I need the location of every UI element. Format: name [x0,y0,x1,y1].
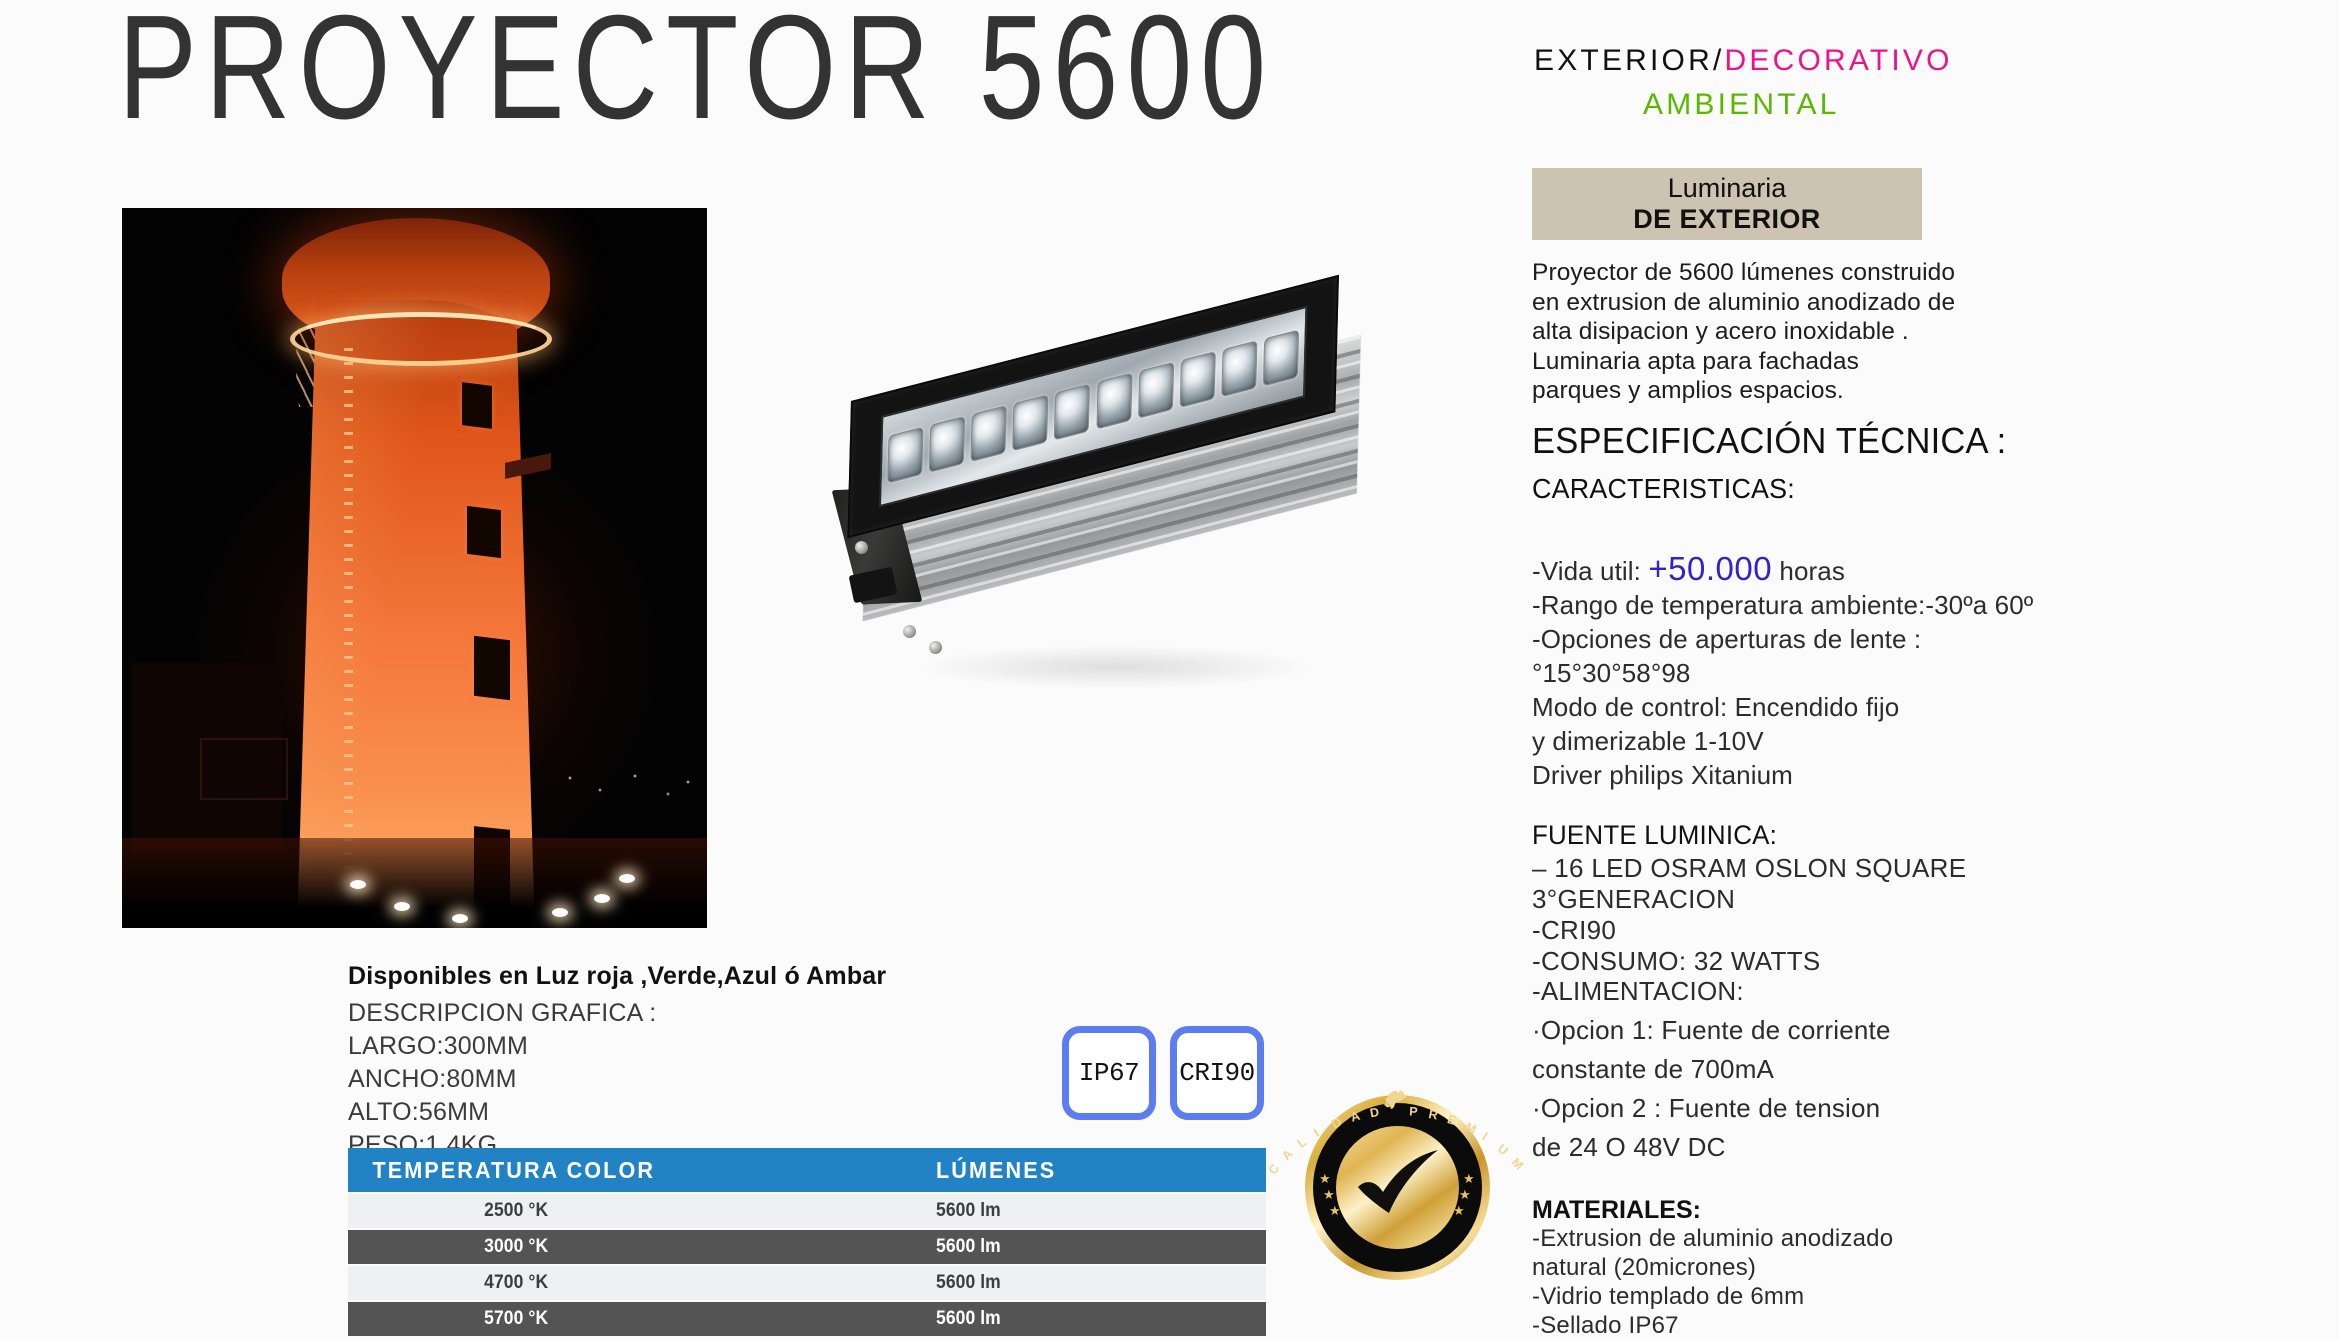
fuente-luminica-heading: FUENTE LUMINICA: [1532,820,1777,851]
spec-line: – 16 LED OSRAM OSLON SQUARE [1532,853,2152,884]
cell-temperature: 2500 °K [348,1200,889,1222]
led-lens [1013,394,1049,451]
photo-ground [122,838,707,928]
intro-line: en extrusion de aluminio anodizado de [1532,288,2092,318]
badge-ip67: IP67 [1062,1026,1156,1120]
fixture-stage [845,395,1465,755]
caracteristicas-list: -Vida util: +50.000 horas -Rango de temp… [1532,552,2132,792]
vida-util-value: +50.000 [1648,550,1772,587]
spec-line: -Opciones de aperturas de lente : [1532,622,2132,656]
ground-spotlight [452,914,468,923]
seal-text-char: C [1265,1161,1282,1177]
alimentacion-list: -ALIMENTACION: ·Opcion 1: Fuente de corr… [1532,972,2152,1167]
graphic-description-block: DESCRIPCION GRAFICA : LARGO:300MM ANCHO:… [348,997,656,1162]
luminaria-label-line2: DE EXTERIOR [1633,203,1820,235]
installation-photo-tower [122,208,707,928]
tower-cap-ring [290,312,552,366]
quality-seal: CALIDAD PREMIUM SATISFACCIÓN GARANTIZADA… [1305,1095,1490,1280]
spec-line: ·Opcion 1: Fuente de corriente [1532,1011,2152,1050]
product-spec-sheet: PROYECTOR 5600 EXTERIOR/DECORATIVO AMBIE… [0,0,2339,1337]
tower-window [474,636,510,700]
kicker-ambiental: AMBIENTAL [1643,88,1840,122]
checkmark-icon [1352,1147,1444,1221]
table-row: 3000 °K 5600 lm [348,1230,1266,1264]
badge-cri90: CRI90 [1170,1026,1264,1120]
fuente-luminica-list: – 16 LED OSRAM OSLON SQUARE 3°GENERACION… [1532,853,2152,977]
materiales-heading: MATERIALES: [1532,1196,1701,1225]
tower-ladder [344,348,353,908]
certification-badges: IP67 CRI90 [1062,1026,1264,1120]
led-lens [1096,373,1132,430]
table-header-lumens: LÚMENES [936,1157,1246,1184]
spec-line: -Rango de temperatura ambiente:-30ºa 60º [1532,588,2132,622]
cell-lumens: 5600 lm [936,1200,1240,1222]
desc-line-title: DESCRIPCION GRAFICA : [348,997,656,1030]
desc-line-largo: LARGO:300MM [348,1030,656,1063]
spec-line: ·Opcion 2 : Fuente de tension [1532,1089,2152,1128]
led-lens [971,405,1007,462]
spec-heading: ESPECIFICACIÓN TÉCNICA : [1532,420,2006,462]
seal-star-icon: ★ [1329,1203,1341,1219]
spec-line: -Vidrio templado de 6mm [1532,1282,2152,1311]
spec-line: -Sellado IP67 [1532,1311,2152,1340]
fixture-screw [855,541,868,554]
cell-temperature: 5700 °K [348,1308,889,1330]
led-lens [1221,340,1257,397]
kicker-decorativo: DECORATIVO [1725,44,1953,77]
seal-star-icon: ★ [1319,1171,1331,1187]
fixture-screw [929,641,942,654]
spec-line: °15°30°58°98 [1532,656,2132,690]
desc-line-alto: ALTO:56MM [348,1096,656,1129]
led-lens [1263,330,1299,387]
led-lens [887,427,923,484]
spec-line-vida-util: -Vida util: +50.000 horas [1532,552,2132,588]
spec-line: Modo de control: Encendido fijo [1532,690,2132,724]
spec-line: natural (20micrones) [1532,1253,2152,1282]
fixture-shadow [915,645,1315,689]
seal-text-char: U [1494,1141,1510,1158]
table-row: 2500 °K 5600 lm [348,1194,1266,1228]
background-window-frame [200,738,288,800]
spec-line: -CRI90 [1532,915,2152,946]
led-lens [1138,362,1174,419]
seal-text-char: A [1279,1146,1295,1162]
ground-spotlight [394,902,410,911]
desc-line-ancho: ANCHO:80MM [348,1063,656,1096]
ground-spotlight [350,880,366,889]
vida-util-suffix: horas [1772,556,1845,586]
seal-star-icon: ★ [1463,1171,1475,1187]
spec-line: -Extrusion de aluminio anodizado [1532,1224,2152,1253]
table-row: 5700 °K 5600 lm [348,1302,1266,1336]
table-header-row: TEMPERATURA COLOR LÚMENES [348,1148,1266,1192]
kicker-exterior: EXTERIOR/ [1534,44,1725,77]
spec-line: constante de 700mA [1532,1050,2152,1089]
spec-line: Driver philips Xitanium [1532,758,2132,792]
materiales-list: -Extrusion de aluminio anodizado natural… [1532,1224,2152,1340]
spec-line: -ALIMENTACION: [1532,972,2152,1011]
table-header-temperature: TEMPERATURA COLOR [348,1157,901,1184]
product-photo-fixture [845,395,1465,755]
spec-line: de 24 O 48V DC [1532,1128,2152,1167]
intro-line: Proyector de 5600 lúmenes construido [1532,258,2092,288]
distant-lights [560,768,700,808]
luminaria-label-line1: Luminaria [1668,173,1787,203]
tower-window [467,506,501,558]
cell-temperature: 3000 °K [348,1236,889,1258]
spec-line: y dimerizable 1-10V [1532,724,2132,758]
seal-star-icon: ★ [1453,1203,1465,1219]
seal-text-char: M [1508,1155,1525,1172]
intro-line: parques y amplios espacios. [1532,376,2092,406]
fixture-screw [903,625,916,638]
led-lens [929,416,965,473]
led-lens [1179,351,1215,408]
seal-star-icon: ★ [1459,1187,1471,1203]
cell-temperature: 4700 °K [348,1272,889,1294]
category-kicker: EXTERIOR/DECORATIVO [1534,44,1953,78]
color-temperature-table: TEMPERATURA COLOR LÚMENES 2500 °K 5600 l… [348,1148,1266,1336]
available-colors-note: Disponibles en Luz roja ,Verde,Azul ó Am… [348,962,886,991]
caracteristicas-heading: CARACTERISTICAS: [1532,473,1795,505]
cell-lumens: 5600 lm [936,1308,1240,1330]
luminaria-type-box: Luminaria DE EXTERIOR [1532,168,1922,240]
product-intro-paragraph: Proyector de 5600 lúmenes construido en … [1532,258,2092,406]
tower-window [462,382,492,429]
ground-spotlight [594,894,610,903]
cell-lumens: 5600 lm [936,1236,1240,1258]
cell-lumens: 5600 lm [936,1272,1240,1294]
intro-line: alta disipacion y acero inoxidable . [1532,317,2092,347]
ground-spotlight [552,908,568,917]
intro-line: Luminaria apta para fachadas [1532,347,2092,377]
led-lens [1054,384,1090,441]
page-title: PROYECTOR 5600 [118,0,1274,142]
vida-util-prefix: -Vida util: [1532,556,1648,586]
ground-spotlight [619,874,635,883]
seal-star-icon: ★ [1323,1187,1335,1203]
spec-line: 3°GENERACION [1532,884,2152,915]
table-row: 4700 °K 5600 lm [348,1266,1266,1300]
